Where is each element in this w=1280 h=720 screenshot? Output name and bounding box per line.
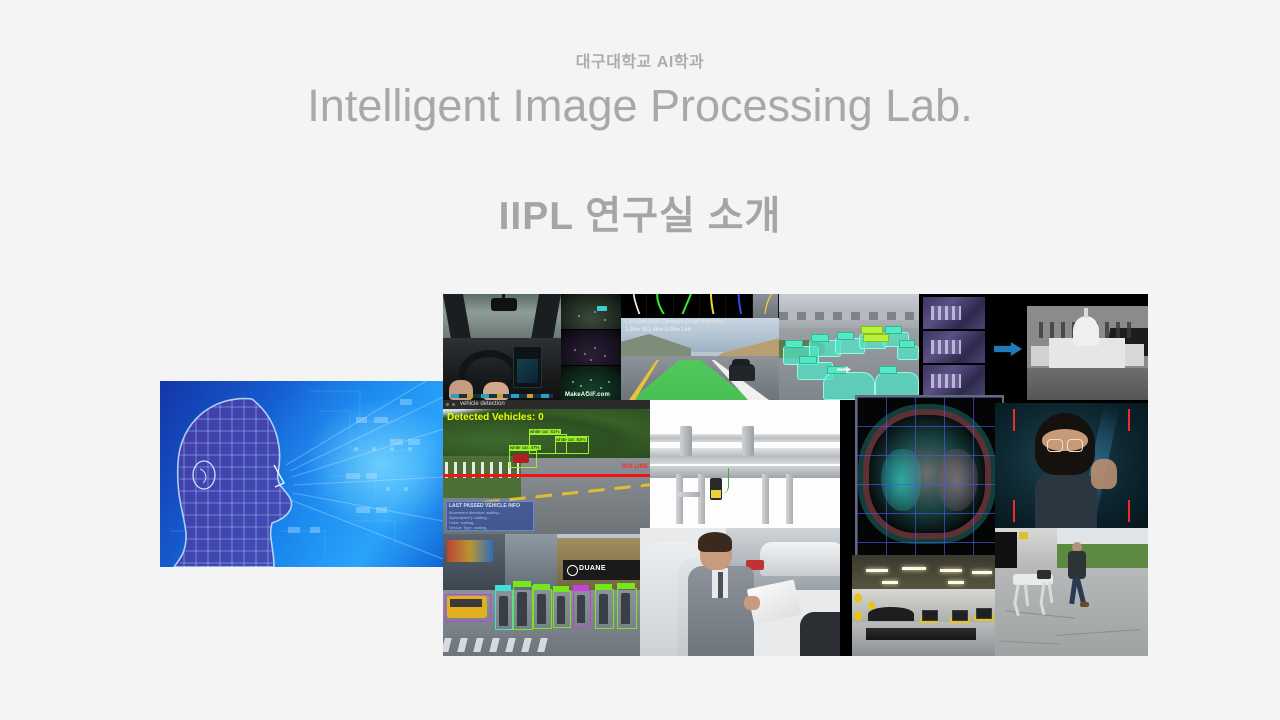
tile-3d-city-reconstruction <box>1027 306 1148 400</box>
detection-tag-2: white car: 83% <box>555 437 587 442</box>
research-topic-collage: MakeAGIF.com Curvature Right Curvature C… <box>443 294 1148 656</box>
detection-tag-1: white car: 61% <box>529 429 561 434</box>
lidar-points <box>561 294 621 400</box>
tile-parking-lot-segmentation <box>779 294 919 400</box>
window-title-bar: vehicle detection <box>443 400 650 409</box>
tile-pedestrian-detection: DUANE <box>443 534 640 656</box>
tile-pipeline-arrow <box>989 294 1027 400</box>
tile-quadruped-robot <box>995 528 1148 656</box>
wireframe-head-icon <box>160 387 331 567</box>
tile-face-recognition <box>995 403 1148 528</box>
tile-lane-detection: Curvature Right Curvature Center Alignme… <box>621 294 779 400</box>
department-line: 대구대학교 AI학과 <box>0 52 1280 74</box>
makeagif-watermark: MakeAGIF.com <box>565 392 610 398</box>
window-title: vehicle detection <box>460 401 505 407</box>
tile-vehicle-detection: white car: 61% white car: 83% white car:… <box>443 400 650 534</box>
quadruped-robot-figure <box>1011 574 1055 616</box>
tile-conveyor-rail-inspection <box>650 400 840 528</box>
walking-person <box>1067 542 1087 606</box>
last-passed-vehicle-info-panel: LAST PASSED VEHICLE INFO Movement direct… <box>446 501 534 531</box>
roi-line-label: ROI LINE <box>622 464 648 470</box>
lane-telemetry-values: 1.95m 651.48m 0.05m Left <box>625 327 691 333</box>
registration-grid <box>857 397 1002 557</box>
tile-smart-warehouse <box>852 555 1000 656</box>
ai-wireframe-head-image <box>160 381 443 567</box>
lane-curve-thumbnails <box>621 294 779 318</box>
tile-aerial-imagery-stack <box>919 294 989 400</box>
collage-gap-filler-1 <box>840 528 852 656</box>
section-heading: IIPL 연구실 소개 <box>0 185 1280 241</box>
detection-tag-3: white car: 47% <box>509 445 541 450</box>
tile-medical-image-registration <box>855 395 1004 559</box>
vision-sensor-icon <box>710 478 722 500</box>
lane-telemetry-labels: Curvature Right Curvature Center Alignme… <box>625 319 723 325</box>
tile-lidar-point-cloud: MakeAGIF.com <box>561 294 621 400</box>
tile-tesla-interior <box>443 294 561 400</box>
tile-autonomous-driving-passenger <box>640 528 852 656</box>
right-arrow-icon <box>994 342 1022 356</box>
info-panel-title: LAST PASSED VEHICLE INFO <box>449 503 520 509</box>
duane-label: DUANE <box>579 565 606 572</box>
duane-reade-signage: DUANE <box>563 560 640 580</box>
detected-vehicles-counter: Detected Vehicles: 0 <box>447 412 544 423</box>
page-title: Intelligent Image Processing Lab. <box>0 77 1280 135</box>
title-block: 대구대학교 AI학과 Intelligent Image Processing … <box>0 52 1280 135</box>
info-row-4: Vehicle Type: waiting... <box>449 525 490 530</box>
